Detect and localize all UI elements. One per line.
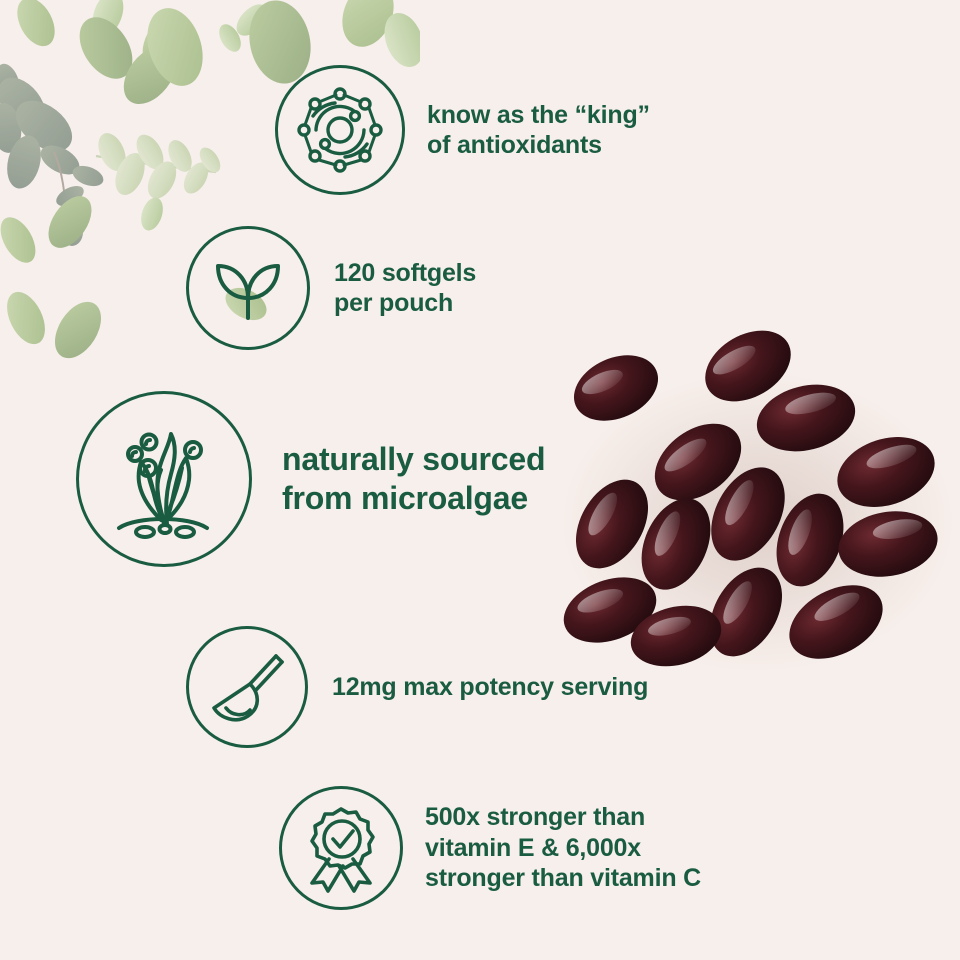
feature-label: 12mg max potency serving	[332, 672, 648, 703]
feature-row-potency-comparison: 500x stronger than vitamin E & 6,000x st…	[279, 786, 701, 910]
antioxidant-molecule-icon	[275, 65, 405, 195]
feature-row-max-potency: 12mg max potency serving	[186, 626, 648, 748]
feature-label: naturally sourced from microalgae	[282, 440, 545, 518]
feature-label: 500x stronger than vitamin E & 6,000x st…	[425, 802, 701, 894]
feature-label: know as the “king” of antioxidants	[427, 100, 650, 161]
infographic-page: know as the “king” of antioxidants 120 s…	[0, 0, 960, 960]
feature-row-microalgae-source: naturally sourced from microalgae	[76, 391, 545, 567]
feature-row-softgel-count: 120 softgels per pouch	[186, 226, 476, 350]
feature-label: 120 softgels per pouch	[334, 258, 476, 319]
spoon-icon	[186, 626, 308, 748]
seaweed-algae-icon	[76, 391, 252, 567]
sprout-leaves-icon	[186, 226, 310, 350]
award-badge-check-icon	[279, 786, 403, 910]
astaxanthin-softgels-photo	[548, 322, 960, 674]
feature-row-antioxidant-king: know as the “king” of antioxidants	[275, 65, 650, 195]
